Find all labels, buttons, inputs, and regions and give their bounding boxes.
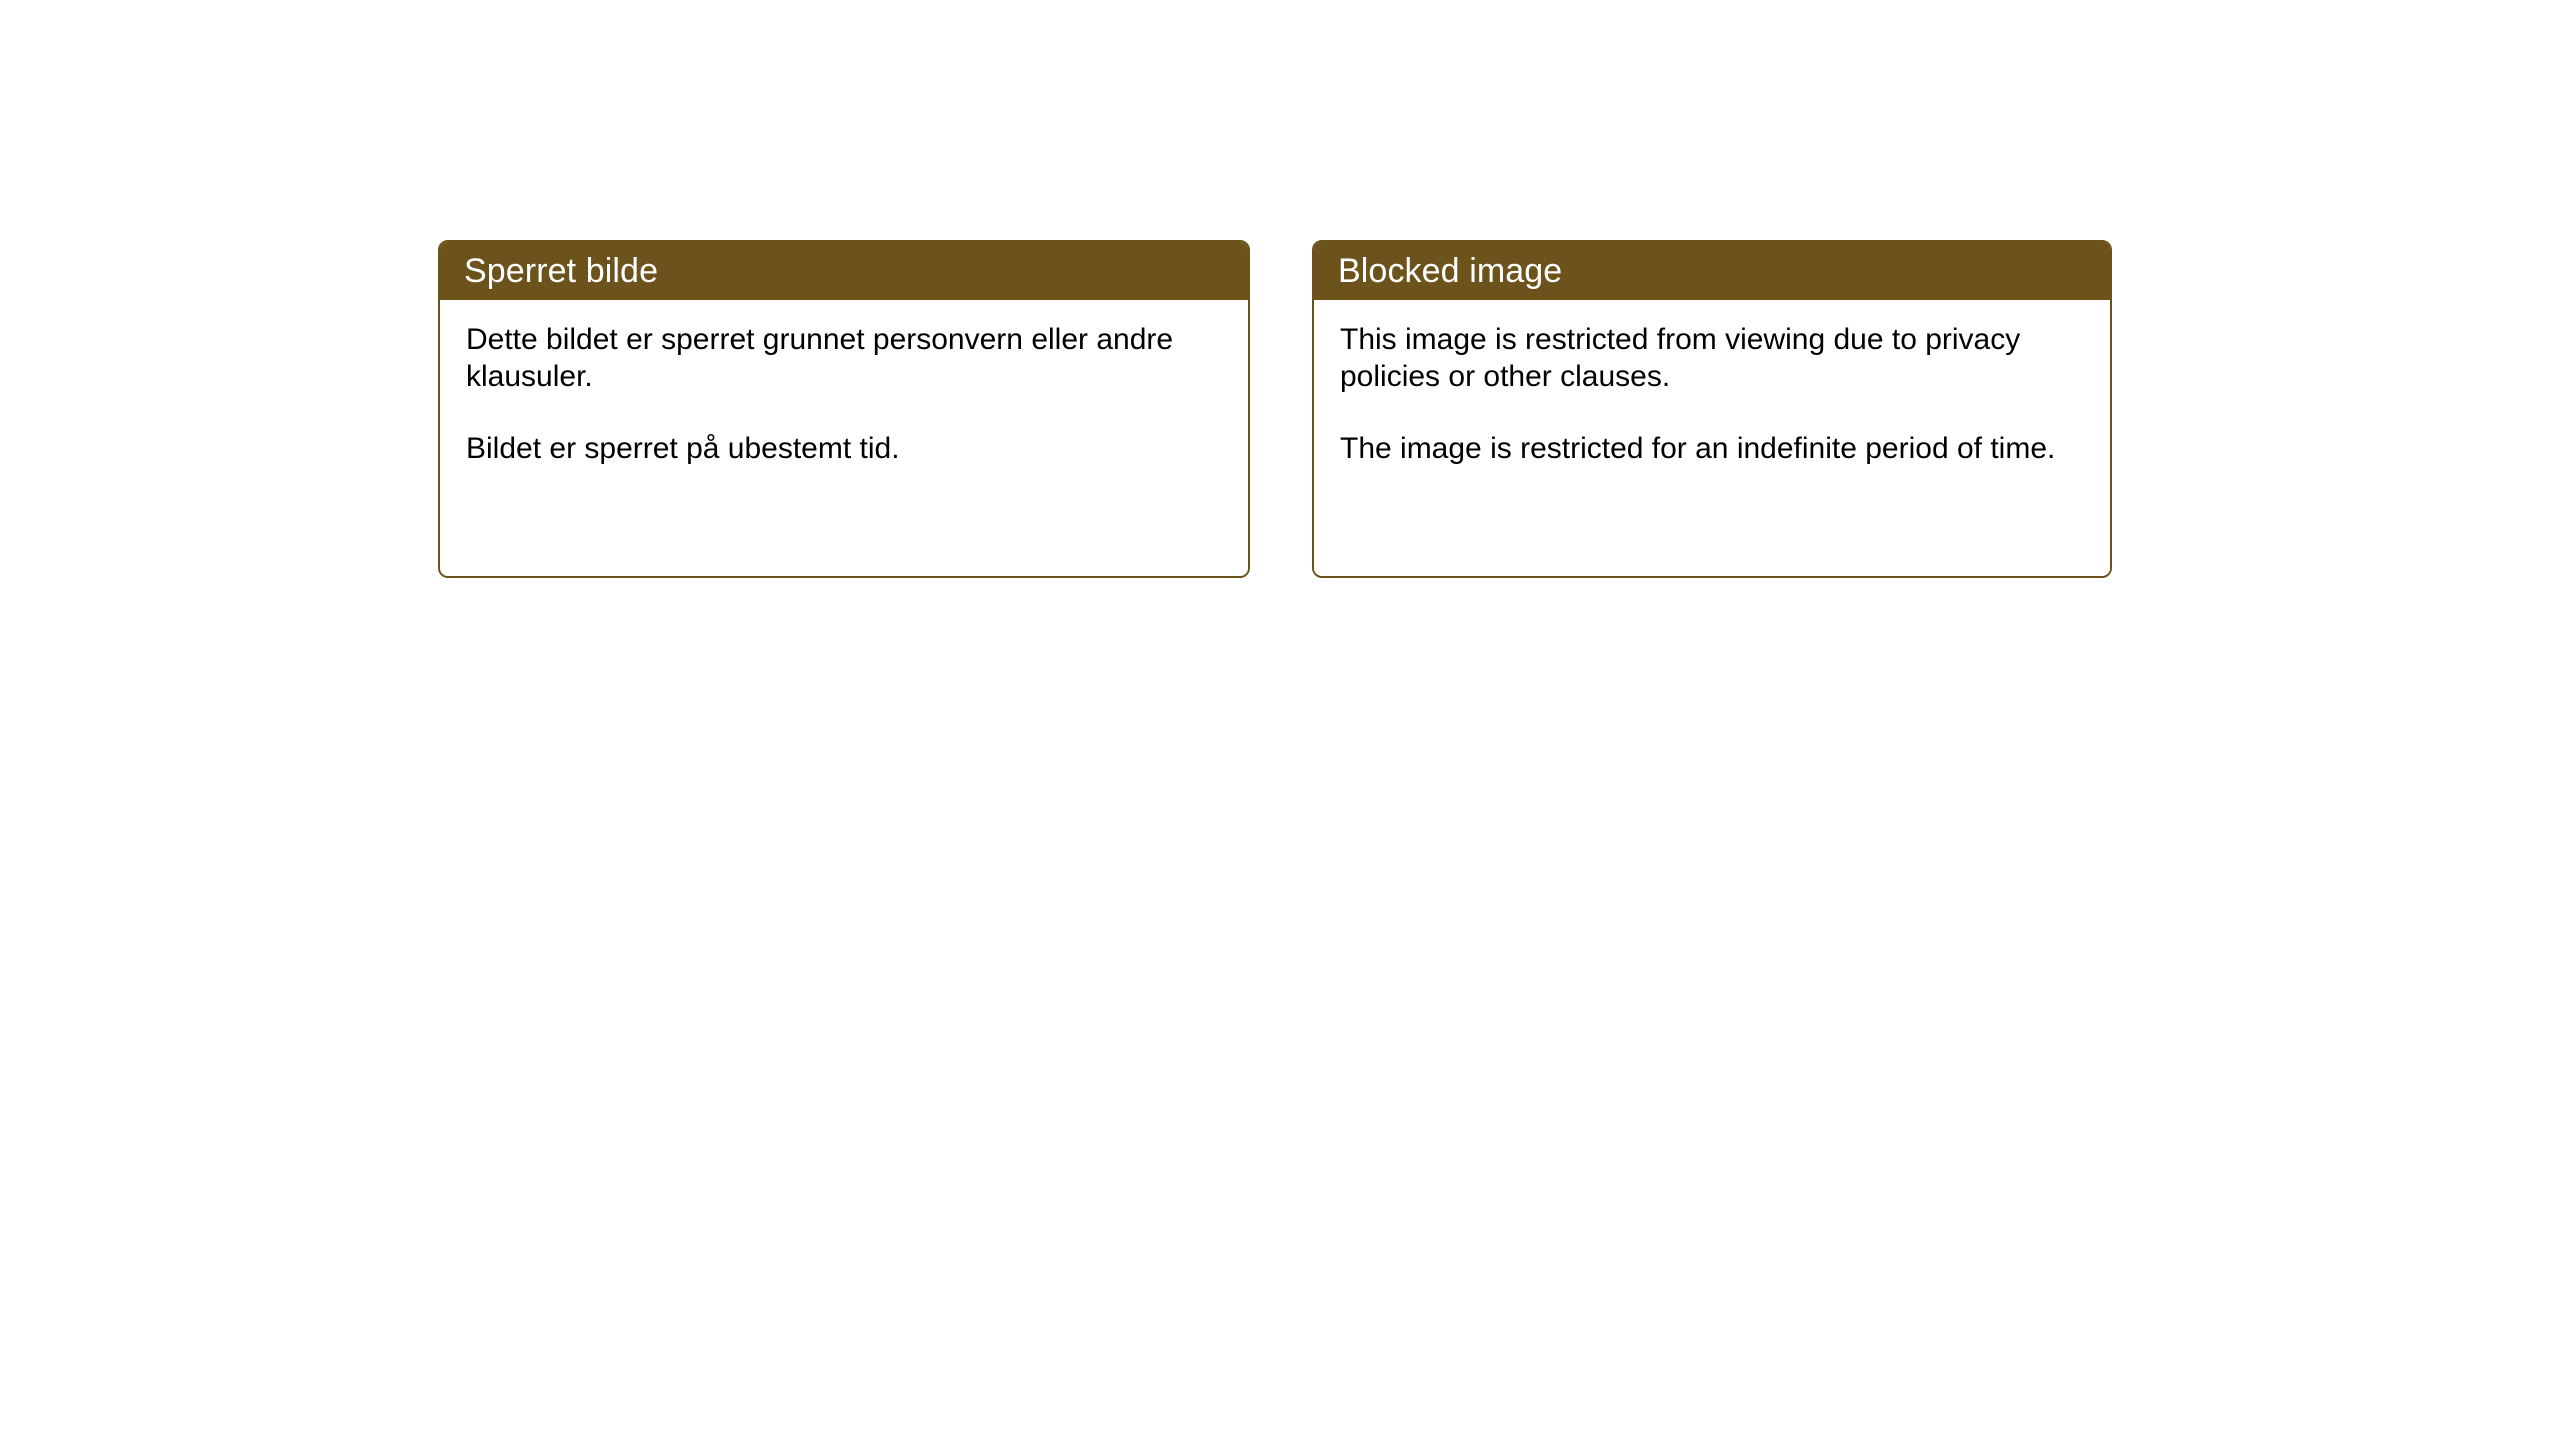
blocked-image-notice-english: Blocked image This image is restricted f… [1312, 240, 2112, 578]
card-paragraph-duration-norwegian: Bildet er sperret på ubestemt tid. [466, 431, 1222, 468]
card-header-english: Blocked image [1314, 242, 2110, 300]
card-header-norwegian: Sperret bilde [440, 242, 1248, 300]
card-title-norwegian: Sperret bilde [464, 254, 658, 288]
card-body-norwegian: Dette bildet er sperret grunnet personve… [440, 300, 1248, 576]
blocked-image-notice-norwegian: Sperret bilde Dette bildet er sperret gr… [438, 240, 1250, 578]
card-body-english: This image is restricted from viewing du… [1314, 300, 2110, 576]
card-paragraph-duration-english: The image is restricted for an indefinit… [1340, 431, 2084, 468]
card-title-english: Blocked image [1338, 254, 1562, 288]
card-paragraph-reason-english: This image is restricted from viewing du… [1340, 322, 2084, 395]
page-root: Sperret bilde Dette bildet er sperret gr… [0, 0, 2560, 1440]
card-paragraph-reason-norwegian: Dette bildet er sperret grunnet personve… [466, 322, 1222, 395]
